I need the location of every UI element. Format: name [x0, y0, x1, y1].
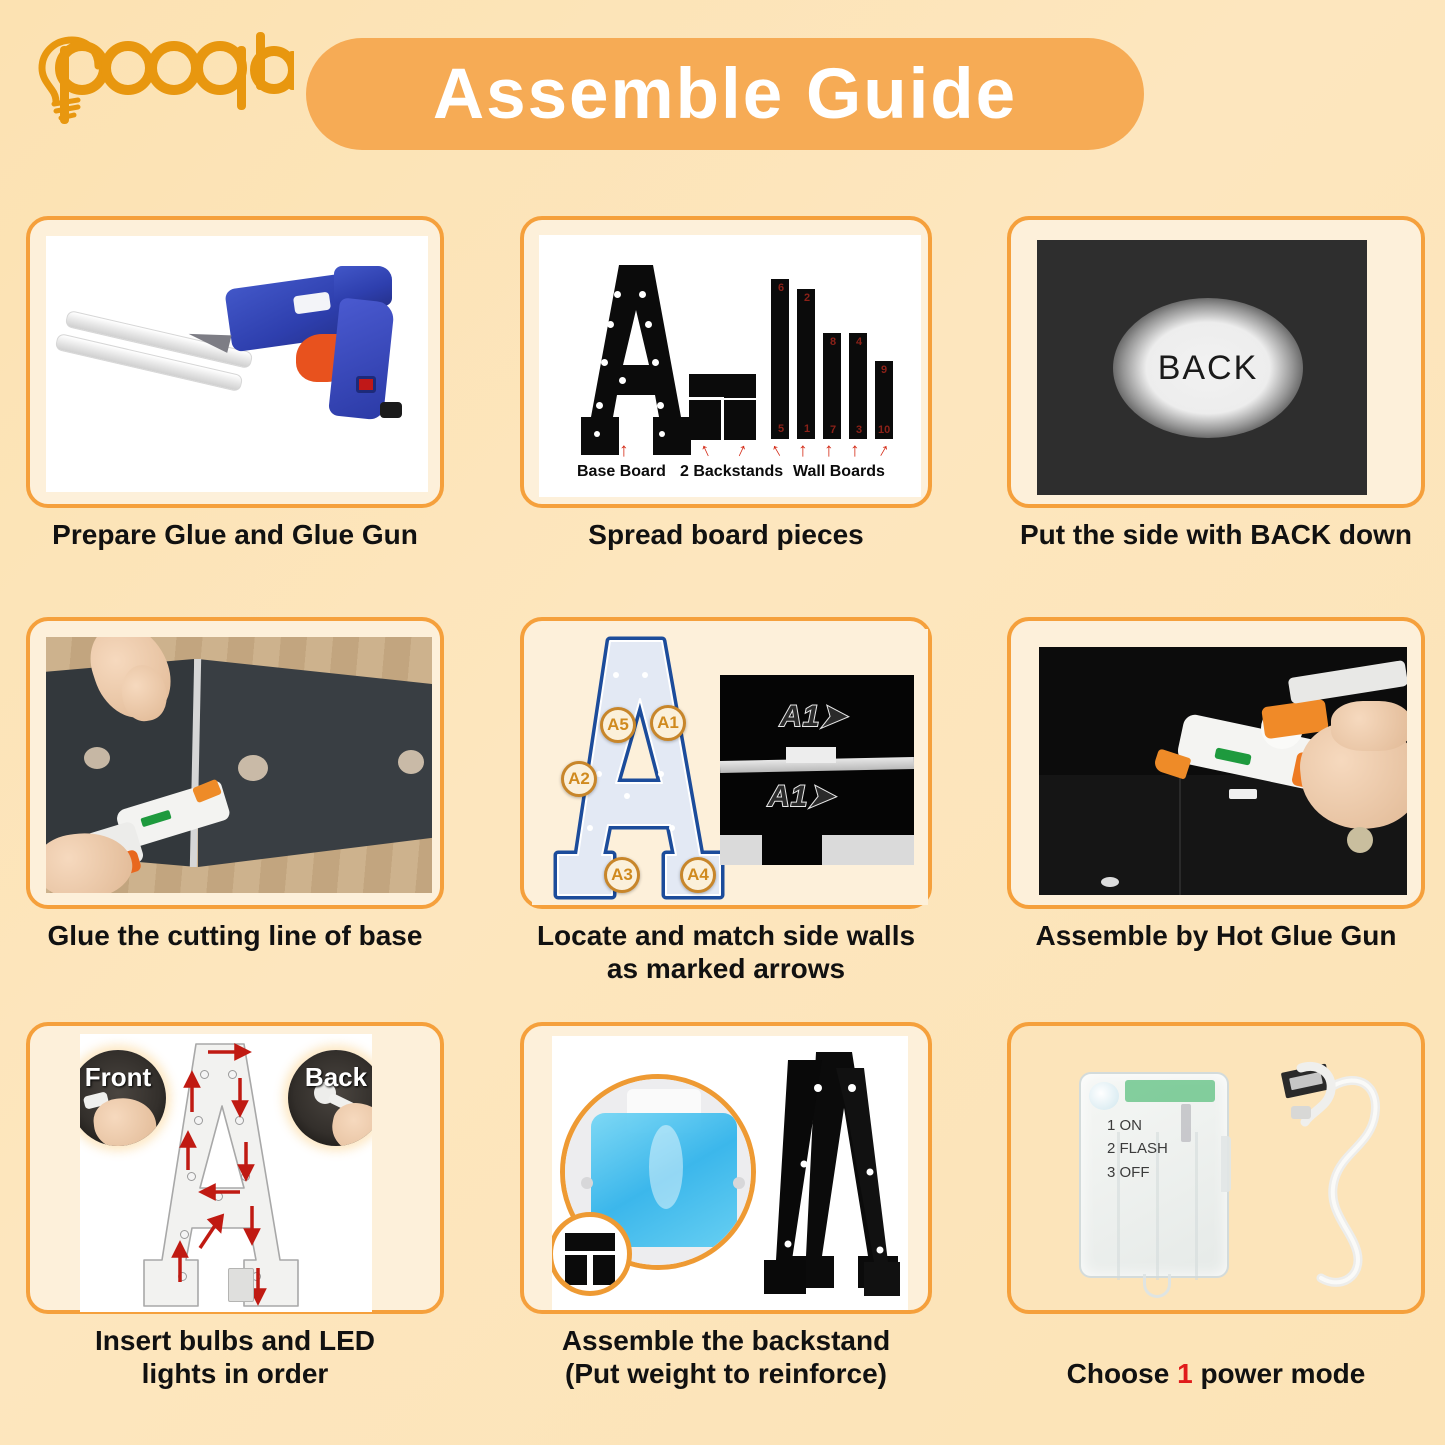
title-banner: Assemble Guide	[306, 38, 1144, 150]
step-2-caption: Spread board pieces	[520, 518, 932, 551]
bulb-piece	[1229, 789, 1257, 799]
step-panel-1: Prepare Glue and Glue Gun	[26, 216, 444, 571]
pointer-arrow-icon: ↑	[733, 440, 750, 461]
step-9-image: 1 ON 2 FLASH 3 OFF	[1025, 1040, 1413, 1302]
assemble-guide-page: Assemble Guide Prepare Glue and Glue Gun	[0, 0, 1445, 1445]
pointer-arrow-icon: ↑	[824, 441, 834, 460]
wall-boards-label: Wall Boards	[793, 463, 885, 481]
step-9-caption-prefix: Choose	[1067, 1358, 1177, 1389]
wall-badge-a2: A2	[561, 761, 597, 797]
step-panel-2: 6 5 2 1 8 7 4 3 9 10	[520, 216, 932, 571]
backstand-notch	[689, 400, 707, 422]
front-label: Front	[85, 1062, 151, 1093]
step-5-caption: Locate and match side walls as marked ar…	[520, 919, 932, 985]
inset-label-a1-bottom: A1➤	[768, 779, 835, 814]
bulb-hole	[642, 672, 648, 678]
board-hole	[657, 402, 664, 409]
backstand-piece	[724, 400, 756, 440]
backstand-assembly	[748, 1048, 908, 1300]
power-button-icon	[1089, 1082, 1119, 1110]
wall-board: 4 3	[849, 333, 867, 439]
bulb-hole	[587, 825, 593, 831]
wall-badge-a1: A1	[650, 705, 686, 741]
board-hole	[639, 291, 646, 298]
inset-label-a1-top: A1➤	[780, 699, 847, 734]
backstand-piece	[593, 1255, 615, 1285]
back-marking-text: BACK	[1158, 349, 1259, 388]
step-4-frame	[26, 617, 444, 909]
battery-box: 1 ON 2 FLASH 3 OFF	[1079, 1072, 1229, 1278]
pointer-arrow-icon: ↑	[768, 440, 786, 461]
step-5-image: A5 A1 A2 A3 A4 A1➤ A1➤	[532, 629, 928, 905]
bulb-hole	[624, 793, 630, 799]
back-label: Back	[305, 1062, 367, 1093]
step-panel-8: Assemble the backstand (Put weight to re…	[520, 1022, 932, 1392]
glue-stick-rear	[1288, 660, 1407, 704]
board-hole	[659, 431, 665, 437]
board-hole	[614, 291, 621, 298]
usb-cable	[1255, 1060, 1413, 1300]
backstand-piece	[565, 1233, 615, 1251]
step-9-caption: Choose 1 power mode	[1007, 1324, 1425, 1390]
board-hole	[645, 321, 652, 328]
wall-board: 9 10	[875, 361, 893, 439]
backstand-pieces-callout	[552, 1212, 632, 1296]
board-hole	[619, 377, 626, 384]
board-hole	[594, 431, 600, 437]
bulb-hole	[613, 672, 619, 678]
step-panel-5: A5 A1 A2 A3 A4 A1➤ A1➤	[520, 617, 932, 977]
step-6-caption: Assemble by Hot Glue Gun	[1007, 919, 1425, 952]
base-board-right	[198, 659, 432, 867]
magnet-disc	[84, 747, 110, 769]
power-mode-list: 1 ON 2 FLASH 3 OFF	[1107, 1114, 1168, 1184]
backstand-piece	[565, 1255, 587, 1285]
pointer-arrow-icon: ↑	[875, 440, 893, 461]
step-4-image	[46, 637, 432, 893]
glue-gun-cord	[380, 402, 402, 418]
step-7-frame: Front Back	[26, 1022, 444, 1314]
battery-box-slot	[228, 1268, 254, 1302]
board-hole	[596, 402, 603, 409]
step-panel-3: BACK Put the side with BACK down	[1007, 216, 1425, 571]
magnet-disc	[398, 750, 424, 774]
step-9-caption-highlight: 1	[1177, 1358, 1193, 1389]
step-1-frame	[26, 216, 444, 508]
pointer-arrow-icon: ↑	[850, 441, 860, 460]
pointer-arrow-icon: ↑	[697, 440, 714, 461]
step-8-image	[552, 1036, 908, 1310]
step-9-caption-suffix: power mode	[1193, 1358, 1366, 1389]
box-latch	[1221, 1136, 1231, 1192]
board-hole	[601, 359, 608, 366]
step-panel-7: Front Back Insert bulbs and LED lights i…	[26, 1022, 444, 1392]
glue-blob	[1101, 877, 1119, 887]
magnet-disc	[1347, 827, 1373, 853]
step-5-inset-photo: A1➤ A1➤	[720, 675, 914, 865]
wall-board: 8 7	[823, 333, 841, 439]
backstands-label: 2 Backstands	[680, 463, 783, 481]
magnet-disc	[238, 755, 268, 781]
board-hole	[607, 321, 614, 328]
hand-knuckles	[1331, 701, 1407, 751]
board-seam	[1179, 775, 1181, 895]
board-hole	[652, 359, 659, 366]
step-8-caption: Assemble the backstand (Put weight to re…	[520, 1324, 932, 1390]
step-6-frame	[1007, 617, 1425, 909]
wall-tab	[786, 747, 836, 763]
step-panel-6: Assemble by Hot Glue Gun	[1007, 617, 1425, 977]
step-panel-4: Glue the cutting line of base	[26, 617, 444, 977]
step-1-image	[46, 236, 428, 492]
hand-twisting-bulb	[328, 1099, 372, 1146]
wall-board: 2 1	[797, 289, 815, 439]
pointer-arrow-icon: ↑	[619, 441, 629, 460]
backstand-hole	[581, 1177, 593, 1189]
base-board-label: Base Board	[577, 463, 666, 481]
bag-handle-highlight	[649, 1125, 683, 1209]
base-notch	[762, 823, 822, 865]
wall-board: 6 5	[771, 279, 789, 439]
step-9-frame: 1 ON 2 FLASH 3 OFF	[1007, 1022, 1425, 1314]
step-3-image: BACK	[1037, 240, 1367, 495]
backstand-piece	[724, 374, 756, 398]
circuit-board	[1125, 1080, 1215, 1102]
page-title: Assemble Guide	[433, 54, 1017, 135]
backstand-hole	[733, 1177, 745, 1189]
page-header: Assemble Guide	[0, 0, 1445, 190]
base-board-letter	[581, 265, 691, 455]
step-3-caption: Put the side with BACK down	[1007, 518, 1425, 551]
pointer-arrow-icon: ↑	[798, 441, 808, 460]
step-7-caption: Insert bulbs and LED lights in order	[26, 1324, 444, 1390]
step-2-image: 6 5 2 1 8 7 4 3 9 10	[539, 235, 921, 497]
step-1-caption: Prepare Glue and Glue Gun	[26, 518, 444, 551]
step-2-frame: 6 5 2 1 8 7 4 3 9 10	[520, 216, 932, 508]
bulb-hole	[669, 825, 675, 831]
step-4-caption: Glue the cutting line of base	[26, 919, 444, 952]
glue-gun-power-switch	[356, 376, 376, 393]
step-panel-9: 1 ON 2 FLASH 3 OFF Choose 1 power mode	[1007, 1022, 1425, 1392]
step-5-frame: A5 A1 A2 A3 A4 A1➤ A1➤	[520, 617, 932, 909]
step-8-frame	[520, 1022, 932, 1314]
wall-badge-a3: A3	[604, 857, 640, 893]
wall-badge-a4: A4	[680, 857, 716, 893]
back-marking-glow: BACK	[1113, 298, 1303, 438]
front-inset-photo: Front	[80, 1050, 166, 1146]
step-7-image: Front Back	[80, 1034, 372, 1312]
wall-badge-a5: A5	[600, 707, 636, 743]
bulb-hole	[658, 771, 664, 777]
step-3-frame: BACK	[1007, 216, 1425, 508]
brand-logo	[24, 18, 294, 128]
box-hook	[1143, 1274, 1171, 1298]
step-6-image	[1039, 647, 1407, 895]
